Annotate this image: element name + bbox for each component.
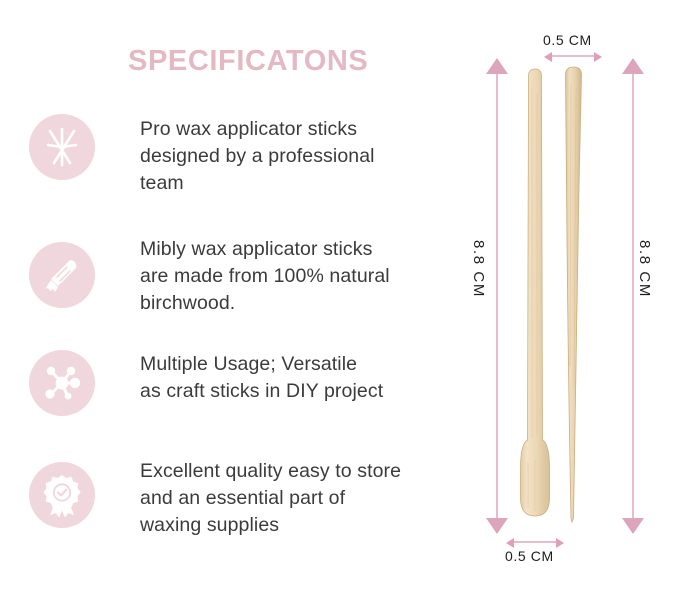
arrow-up-icon (486, 58, 508, 74)
feature-text: Multiple Usage; Versatile as craft stick… (140, 351, 452, 405)
quality-badge-icon (29, 462, 95, 528)
right-height-dimension-line (632, 72, 634, 520)
arrow-up-icon (622, 58, 644, 74)
arrow-left-icon (506, 538, 514, 548)
birchwood-log-icon (29, 242, 95, 308)
network-hub-icon (29, 350, 95, 416)
right-height-label: 8.8 CM (636, 240, 653, 298)
arrow-down-icon (622, 518, 644, 534)
top-width-label: 0.5 CM (543, 32, 592, 48)
arrow-left-icon (544, 52, 552, 62)
bottom-width-dimension-line (513, 541, 557, 543)
spatula-applicator-stick (515, 68, 555, 524)
arrow-down-icon (486, 518, 508, 534)
specifications-infographic: SPECIFICATONS Pro wax applicator sticks … (0, 0, 679, 589)
arrow-right-icon (594, 52, 602, 62)
bottom-width-label: 0.5 CM (505, 548, 554, 564)
feature-text: Mibly wax applicator sticks are made fro… (140, 236, 452, 317)
product-dimension-diagram: 8.8 CM 8.8 CM 0.5 CM 0.5 CM (455, 0, 679, 589)
top-width-dimension-line (551, 55, 595, 57)
left-height-label: 8.8 CM (470, 240, 487, 298)
arrow-right-icon (556, 538, 564, 548)
features-panel: SPECIFICATONS Pro wax applicator sticks … (0, 0, 455, 589)
page-title: SPECIFICATONS (128, 45, 368, 78)
crossed-sticks-icon (29, 114, 95, 180)
left-height-dimension-line (496, 72, 498, 520)
feature-text: Excellent quality easy to store and an e… (140, 458, 452, 539)
feature-text: Pro wax applicator sticks designed by a … (140, 116, 452, 197)
pointed-applicator-stick (560, 66, 592, 526)
